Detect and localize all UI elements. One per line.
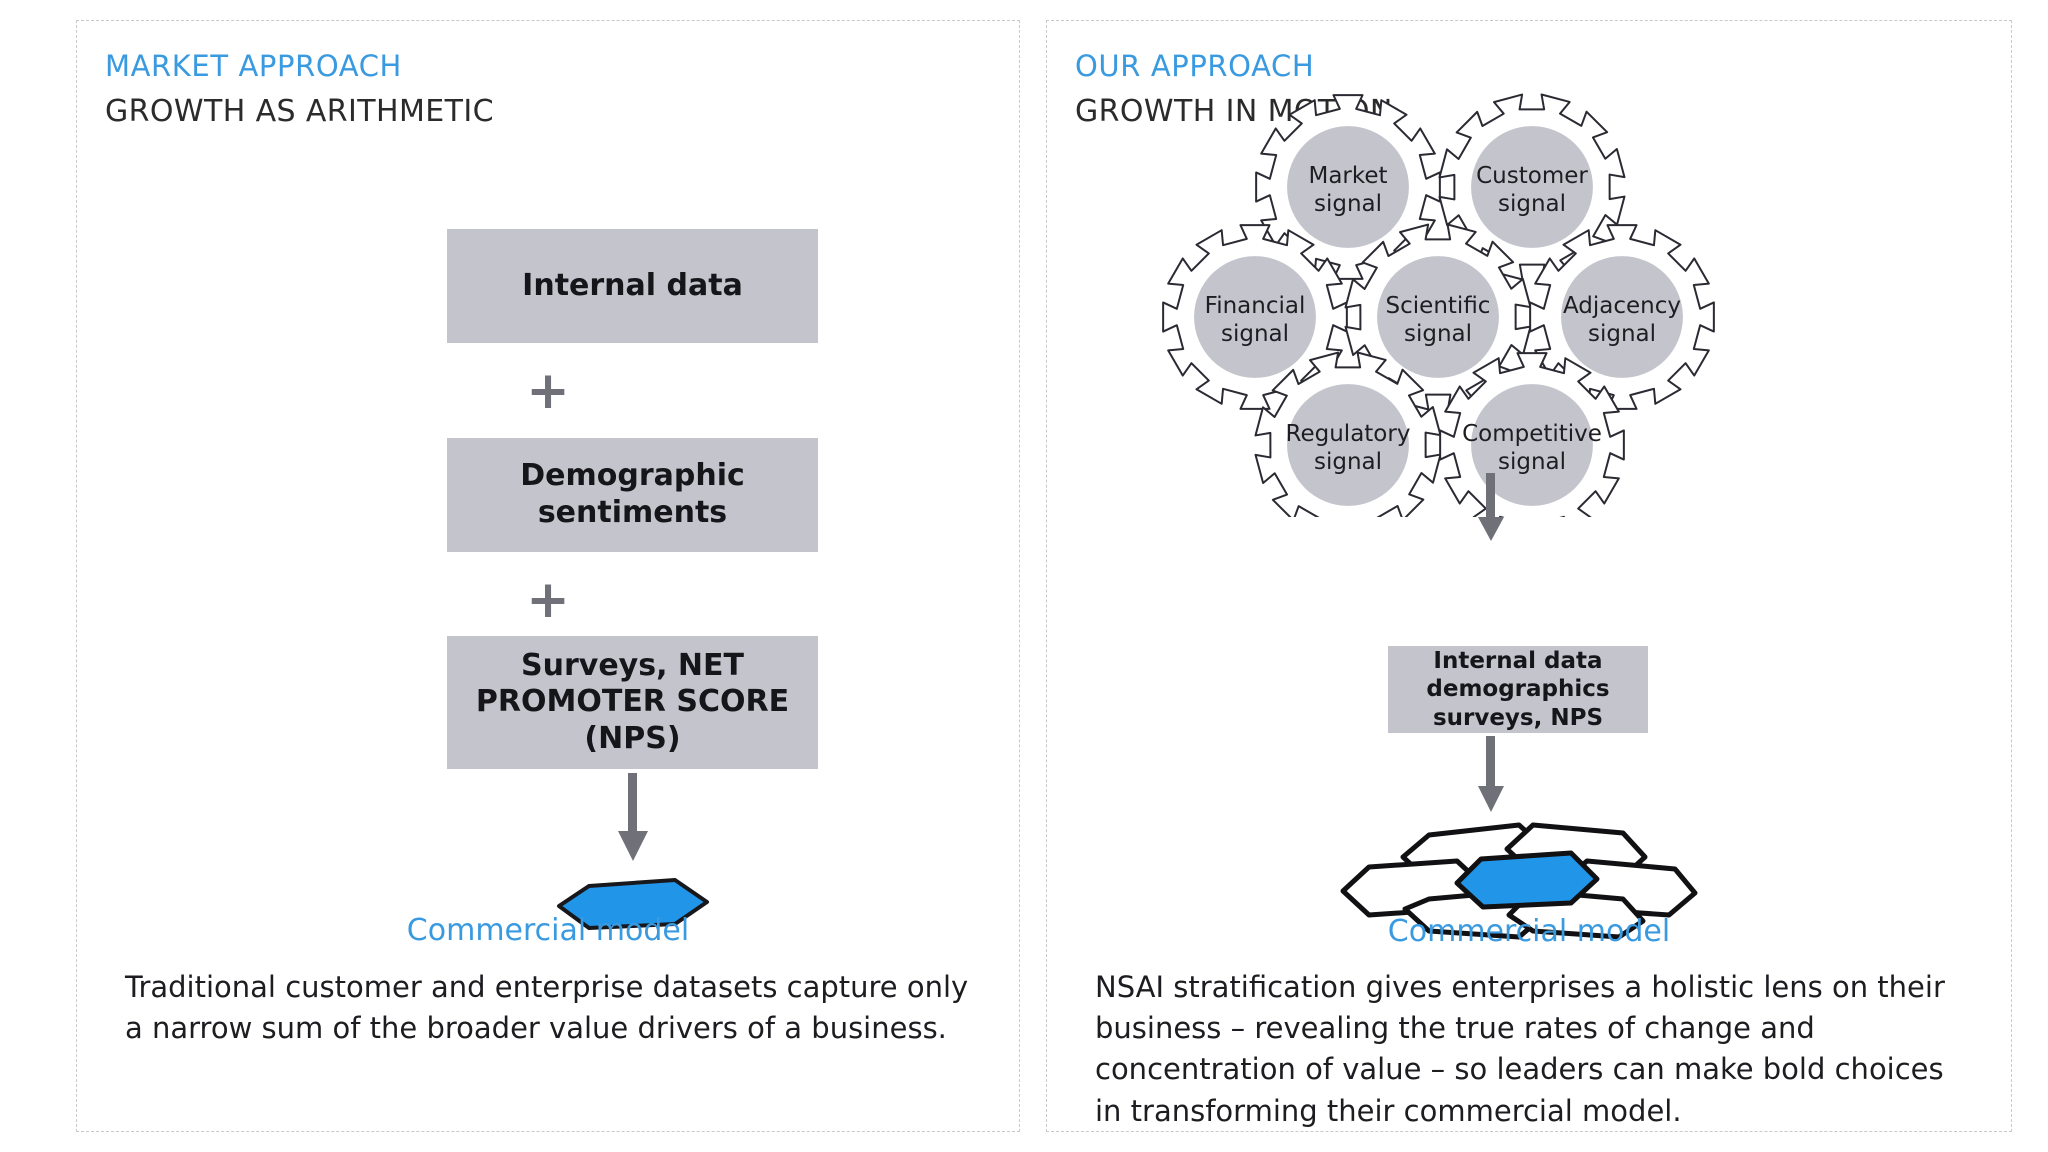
down-arrow-icon bbox=[612, 773, 654, 865]
box-demographic-sentiments-label: Demographicsentiments bbox=[520, 458, 745, 531]
box-demographic-sentiments: Demographicsentiments bbox=[447, 438, 818, 552]
right-commercial-model-label: Commercial model bbox=[1047, 914, 2011, 949]
box-internal-data-label: Internal data bbox=[522, 268, 743, 305]
right-eyebrow-title: OUR APPROACH bbox=[1075, 49, 1314, 83]
left-commercial-model-label: Commercial model bbox=[77, 913, 1019, 948]
left-subhead-title: GROWTH AS ARITHMETIC bbox=[105, 94, 494, 129]
left-caption: Traditional customer and enterprise data… bbox=[125, 967, 981, 1049]
box-to-hex-arrow-icon bbox=[1474, 736, 1508, 816]
box-internal-data: Internal data bbox=[447, 229, 818, 343]
panel-our-approach: OUR APPROACH GROWTH IN MOTION Marketsign… bbox=[1046, 20, 2012, 1132]
box-internal-data-demographics-surveys-label: Internal datademographicssurveys, NPS bbox=[1426, 647, 1609, 733]
diagram-stage: MARKET APPROACH GROWTH AS ARITHMETIC Int… bbox=[0, 0, 2048, 1152]
gears-to-box-arrow-icon bbox=[1474, 473, 1508, 545]
hexagon-center bbox=[1457, 853, 1597, 907]
plus-operator-2: + bbox=[77, 574, 1019, 626]
box-internal-data-demographics-surveys: Internal datademographicssurveys, NPS bbox=[1388, 646, 1648, 733]
box-surveys-nps-label: Surveys, NETPROMOTER SCORE(NPS) bbox=[476, 648, 789, 758]
gear-cluster: MarketsignalCustomersignalFinancialsigna… bbox=[1075, 87, 1985, 517]
panel-market-approach: MARKET APPROACH GROWTH AS ARITHMETIC Int… bbox=[76, 20, 1020, 1132]
plus-operator-1: + bbox=[77, 365, 1019, 417]
left-eyebrow-title: MARKET APPROACH bbox=[105, 49, 402, 83]
right-caption: NSAI stratification gives enterprises a … bbox=[1095, 967, 1975, 1132]
box-surveys-nps: Surveys, NETPROMOTER SCORE(NPS) bbox=[447, 636, 818, 769]
